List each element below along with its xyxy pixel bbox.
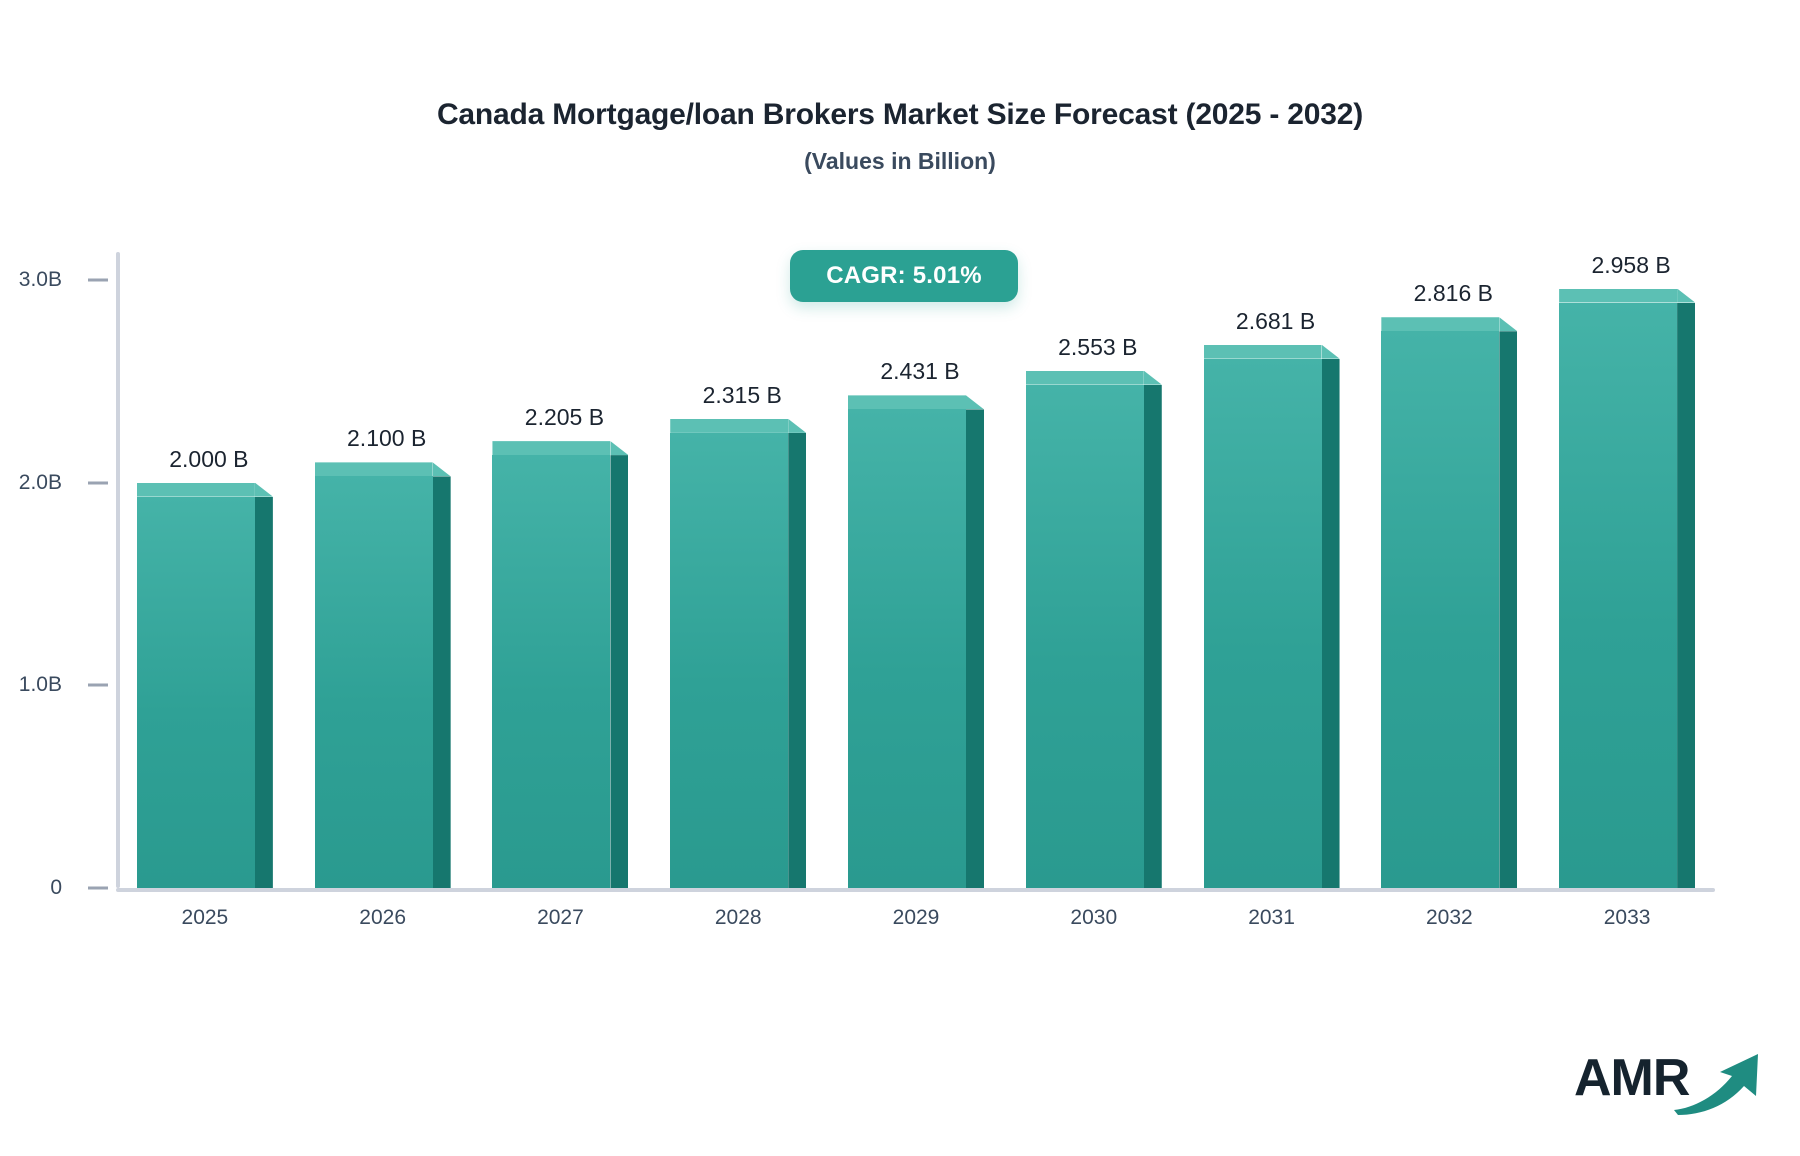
bar-front-face bbox=[137, 497, 255, 888]
bar-top-face bbox=[492, 441, 610, 455]
bar-top-face bbox=[1026, 371, 1144, 385]
bar-top-bevel bbox=[255, 483, 273, 497]
bar-top-bevel bbox=[1499, 317, 1517, 331]
bar-side-face bbox=[1677, 303, 1695, 888]
y-axis-tick-label: 2.0B bbox=[0, 471, 62, 495]
x-axis-line bbox=[116, 888, 1715, 892]
bar-series: 2.000 B2.100 B2.205 B2.315 B2.431 B2.553… bbox=[116, 252, 1716, 888]
bar-side-face bbox=[610, 455, 628, 888]
bar-top-bevel bbox=[788, 419, 806, 433]
bar-top-bevel bbox=[1677, 289, 1695, 303]
y-axis-tick-label: 3.0B bbox=[0, 268, 62, 292]
bar-value-label: 2.000 B bbox=[169, 446, 248, 473]
bar-value-label: 2.958 B bbox=[1591, 252, 1670, 279]
bar-front-face bbox=[492, 455, 610, 888]
y-axis-tick-mark bbox=[88, 279, 108, 282]
bar-value-label: 2.100 B bbox=[347, 425, 426, 452]
bar-side-face bbox=[1144, 385, 1162, 888]
bar-front-face bbox=[670, 433, 788, 888]
bar-top-bevel bbox=[433, 462, 451, 476]
bar-2033[interactable] bbox=[1559, 289, 1695, 888]
bar-2025[interactable] bbox=[137, 483, 273, 888]
bar-top-face bbox=[137, 483, 255, 497]
page-title: Canada Mortgage/loan Brokers Market Size… bbox=[0, 98, 1800, 132]
bar-value-label: 2.553 B bbox=[1058, 334, 1137, 361]
bar-2032[interactable] bbox=[1381, 317, 1517, 888]
bar-top-face bbox=[848, 395, 966, 409]
y-axis-tick-mark bbox=[88, 684, 108, 687]
bar-value-label: 2.431 B bbox=[880, 358, 959, 385]
bar-top-face bbox=[670, 419, 788, 433]
bar-front-face bbox=[1026, 385, 1144, 888]
bar-top-bevel bbox=[1322, 345, 1340, 359]
bar-value-label: 2.816 B bbox=[1414, 280, 1493, 307]
bar-2030[interactable] bbox=[1026, 371, 1162, 888]
bar-2028[interactable] bbox=[670, 419, 806, 888]
bar-side-face bbox=[966, 409, 984, 888]
bar-2027[interactable] bbox=[492, 441, 628, 888]
bar-front-face bbox=[315, 476, 433, 888]
bar-front-face bbox=[1381, 331, 1499, 888]
x-axis-tick-label: 2028 bbox=[715, 906, 762, 930]
y-axis-tick-mark bbox=[88, 481, 108, 484]
x-axis-tick-label: 2033 bbox=[1604, 906, 1651, 930]
bar-side-face bbox=[433, 476, 451, 888]
bar-front-face bbox=[1559, 303, 1677, 888]
cagr-badge: CAGR: 5.01% bbox=[790, 250, 1018, 302]
bar-top-face bbox=[1204, 345, 1322, 359]
y-axis-tick-label: 0 bbox=[0, 876, 62, 900]
bar-top-bevel bbox=[966, 395, 984, 409]
y-axis-tick-mark bbox=[88, 887, 108, 890]
bar-top-face bbox=[1559, 289, 1677, 303]
bar-top-face bbox=[315, 462, 433, 476]
y-axis-tick-label: 1.0B bbox=[0, 673, 62, 697]
x-axis-tick-label: 2026 bbox=[359, 906, 406, 930]
x-axis-tick-label: 2027 bbox=[537, 906, 584, 930]
x-axis-tick-label: 2025 bbox=[182, 906, 229, 930]
bar-top-face bbox=[1381, 317, 1499, 331]
bar-2029[interactable] bbox=[848, 395, 984, 888]
amr-logo[interactable]: AMR bbox=[1574, 1038, 1764, 1124]
bar-front-face bbox=[848, 409, 966, 888]
cagr-badge-label: CAGR: 5.01% bbox=[826, 262, 982, 290]
bar-front-face bbox=[1204, 359, 1322, 888]
bar-value-label: 2.205 B bbox=[525, 404, 604, 431]
bar-value-label: 2.315 B bbox=[703, 382, 782, 409]
bar-side-face bbox=[1322, 359, 1340, 888]
bar-2026[interactable] bbox=[315, 462, 451, 888]
bar-value-label: 2.681 B bbox=[1236, 308, 1315, 335]
bar-top-bevel bbox=[610, 441, 628, 455]
bar-side-face bbox=[1499, 331, 1517, 888]
chart-subtitle: (Values in Billion) bbox=[0, 148, 1800, 175]
x-axis-tick-label: 2030 bbox=[1070, 906, 1117, 930]
bar-side-face bbox=[788, 433, 806, 888]
bar-2031[interactable] bbox=[1204, 345, 1340, 888]
x-axis-tick-label: 2032 bbox=[1426, 906, 1473, 930]
x-axis-tick-label: 2029 bbox=[893, 906, 940, 930]
bar-side-face bbox=[255, 497, 273, 888]
bar-top-bevel bbox=[1144, 371, 1162, 385]
trend-up-arrow-icon bbox=[1672, 1046, 1768, 1116]
x-axis-tick-label: 2031 bbox=[1248, 906, 1295, 930]
